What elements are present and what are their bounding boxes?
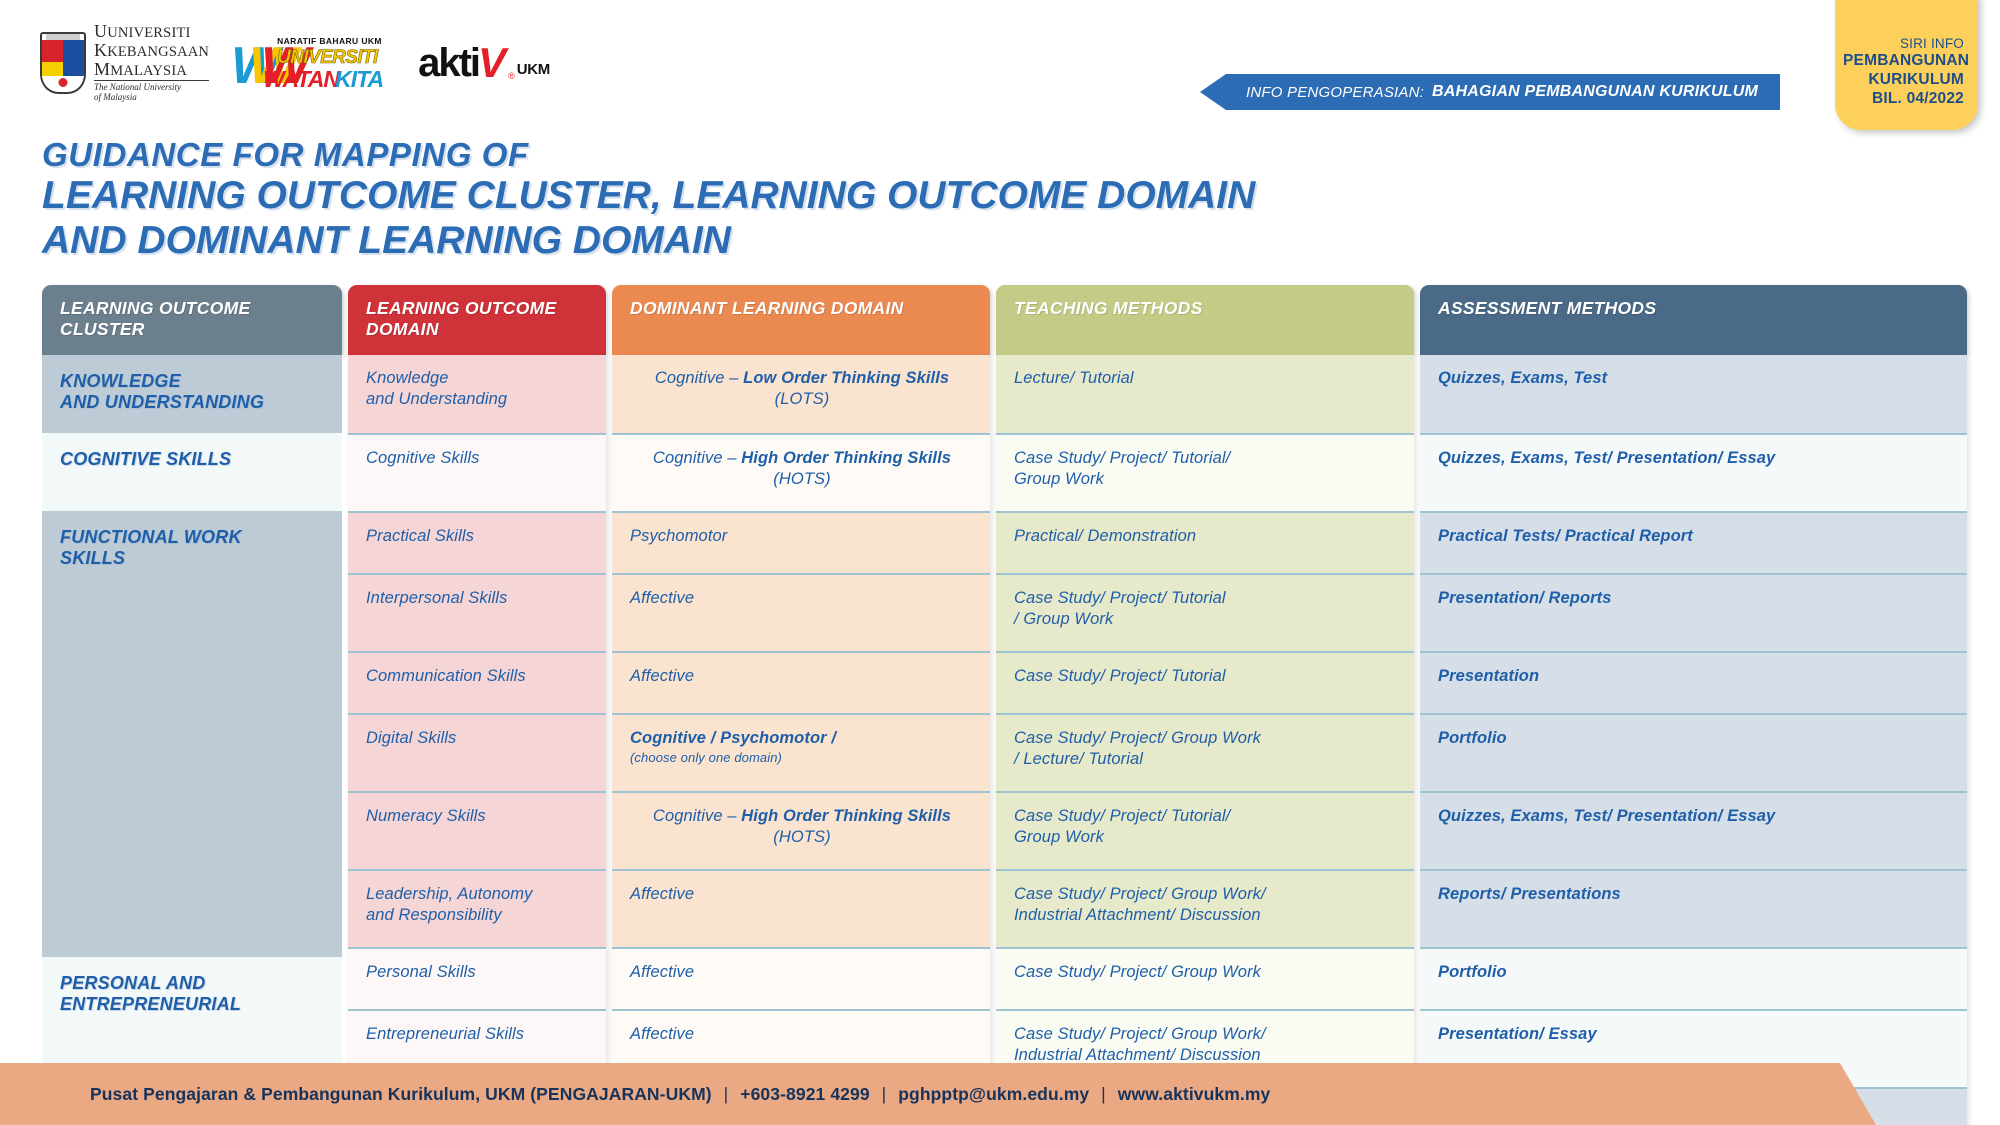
lo-domain-cell: Digital Skills (348, 713, 606, 791)
infographic-page: UUNIVERSITI KKEBANGSAAN MMALAYSIA The Na… (0, 0, 2000, 1125)
naratif-tagline: NARATIF BAHARU UKM (277, 36, 382, 46)
dominant-domain-cell: Cognitive / Psychomotor /(choose only on… (612, 713, 990, 791)
column-header-cluster: LEARNING OUTCOME CLUSTER (42, 285, 342, 355)
dominant-domain-prefix: Psychomotor (630, 527, 727, 545)
dominant-domain-prefix: Affective (630, 963, 694, 981)
mapping-table: LEARNING OUTCOME CLUSTER LEARNING OUTCOM… (42, 285, 1967, 1125)
teaching-methods-cell-line: Group Work (1014, 827, 1398, 848)
naratif-baharu-logo: W W W NARATIF BAHARU UKM UNIVERSITI WATA… (231, 34, 396, 92)
teaching-methods-cell: Case Study/ Project/ Tutorial/Group Work (996, 433, 1414, 511)
dominant-domain-cell: Affective (612, 869, 990, 947)
footer-email[interactable]: pghpptp@ukm.edu.my (898, 1084, 1089, 1104)
lo-domain-cell-line: Interpersonal Skills (366, 588, 590, 609)
assessment-methods-cell-line: Reports/ Presentations (1438, 884, 1951, 905)
cluster-label-line: AND UNDERSTANDING (60, 392, 330, 414)
lo-domain-cell-line: Knowledge (366, 368, 590, 389)
page-title-line2: AND DOMINANT LEARNING DOMAIN (42, 220, 1255, 263)
operation-info-banner: INFO PENGOPERASIAN: BAHAGIAN PEMBANGUNAN… (1200, 74, 1780, 110)
column-header-teaching: TEACHING METHODS (996, 285, 1414, 355)
page-title-block: GUIDANCE FOR MAPPING OF LEARNING OUTCOME… (42, 138, 1255, 262)
column-dominant-learning-domain: Cognitive – Low Order Thinking Skills (L… (612, 355, 990, 1125)
ukm-line1: UNIVERSITI (107, 25, 190, 41)
table-body: KNOWLEDGEAND UNDERSTANDINGCOGNITIVE SKIL… (42, 355, 1967, 1125)
aktiv-v-mark: V (478, 44, 506, 82)
assessment-methods-cell: Practical Tests/ Practical Report (1420, 511, 1967, 573)
dominant-domain-text: Cognitive / Psychomotor / (630, 728, 974, 749)
lo-domain-cell-line: Communication Skills (366, 666, 590, 687)
naratif-line3a: WATAN (263, 66, 339, 93)
lo-domain-cell-line: Leadership, Autonomy (366, 884, 590, 905)
siri-line2: PEMBANGUNAN (1843, 52, 1964, 71)
assessment-methods-cell-line: Practical Tests/ Practical Report (1438, 526, 1951, 547)
assessment-methods-cell: Reports/ Presentations (1420, 869, 1967, 947)
dominant-domain-prefix: Affective (630, 667, 694, 685)
footer-bar: Pusat Pengajaran & Pembangunan Kurikulum… (0, 1063, 2000, 1125)
dominant-domain-prefix: Affective (630, 885, 694, 903)
dominant-domain-prefix: Affective (630, 589, 694, 607)
assessment-methods-cell: Presentation (1420, 651, 1967, 713)
lo-domain-cell-line: Practical Skills (366, 526, 590, 547)
lo-domain-cell: Practical Skills (348, 511, 606, 573)
dominant-domain-note: (choose only one domain) (630, 750, 974, 767)
footer-sep-1: | (724, 1084, 729, 1104)
operation-banner-label: INFO PENGOPERASIAN: (1246, 84, 1424, 101)
assessment-methods-cell: Quizzes, Exams, Test/ Presentation/ Essa… (1420, 433, 1967, 511)
dominant-domain-prefix: Cognitive – (653, 807, 741, 825)
cluster-label-line: ENTREPRENEURIAL (60, 994, 330, 1016)
column-teaching-methods: Lecture/ TutorialCase Study/ Project/ Tu… (996, 355, 1414, 1125)
cluster-cell: KNOWLEDGEAND UNDERSTANDING (42, 355, 342, 433)
assessment-methods-cell-line: Presentation (1438, 666, 1951, 687)
assessment-methods-cell: Quizzes, Exams, Test/ Presentation/ Essa… (1420, 791, 1967, 869)
dominant-domain-prefix: Cognitive – (655, 369, 743, 387)
dominant-domain-text: Affective (630, 666, 974, 687)
siri-line3: KURIKULUM (1843, 71, 1964, 90)
ukm-line3: MALAYSIA (110, 63, 187, 79)
teaching-methods-cell-line: Industrial Attachment/ Discussion (1014, 905, 1398, 926)
footer-sep-2: | (882, 1084, 887, 1104)
teaching-methods-cell-line: Case Study/ Project/ Tutorial (1014, 588, 1398, 609)
ukm-sub2: of Malaysia (94, 93, 209, 103)
assessment-methods-cell-line: Quizzes, Exams, Test (1438, 368, 1951, 389)
cluster-label-line: KNOWLEDGE (60, 371, 330, 393)
cluster-cell: COGNITIVE SKILLS (42, 433, 342, 511)
lo-domain-cell: Leadership, Autonomyand Responsibility (348, 869, 606, 947)
footer-website[interactable]: www.aktivukm.my (1118, 1084, 1271, 1104)
footer-sep-3: | (1101, 1084, 1106, 1104)
teaching-methods-cell-line: Practical/ Demonstration (1014, 526, 1398, 547)
lo-domain-cell-line: Cognitive Skills (366, 448, 590, 469)
dominant-domain-emphasis: Low Order Thinking Skills (743, 369, 949, 387)
aktiv-suffix: UKM (517, 61, 550, 78)
dominant-domain-cell: Cognitive – High Order Thinking Skills (… (612, 791, 990, 869)
assessment-methods-cell: Quizzes, Exams, Test (1420, 355, 1967, 433)
teaching-methods-cell-line: Case Study/ Project/ Tutorial (1014, 666, 1398, 687)
operation-banner-value: BAHAGIAN PEMBANGUNAN KURIKULUM (1432, 83, 1758, 101)
assessment-methods-cell-line: Quizzes, Exams, Test/ Presentation/ Essa… (1438, 806, 1951, 827)
teaching-methods-cell-line: Case Study/ Project/ Tutorial/ (1014, 448, 1398, 469)
naratif-line3b: KITA (335, 66, 383, 93)
teaching-methods-cell: Practical/ Demonstration (996, 511, 1414, 573)
table-header-row: LEARNING OUTCOME CLUSTER LEARNING OUTCOM… (42, 285, 1967, 355)
dominant-domain-emphasis: Cognitive / Psychomotor / (630, 729, 836, 747)
aktiv-word: akti (418, 45, 479, 81)
lo-domain-cell: Personal Skills (348, 947, 606, 1009)
dominant-domain-text: Affective (630, 962, 974, 983)
lo-domain-cell-line: Personal Skills (366, 962, 590, 983)
teaching-methods-cell-line: Lecture/ Tutorial (1014, 368, 1398, 389)
teaching-methods-cell-line: Case Study/ Project/ Group Work (1014, 728, 1398, 749)
lo-domain-cell-line: and Responsibility (366, 905, 590, 926)
dominant-domain-text: Cognitive – Low Order Thinking Skills (L… (630, 368, 974, 410)
ukm-crest-wordmark: UUNIVERSITI KKEBANGSAAN MMALAYSIA The Na… (94, 22, 209, 103)
page-title-line1: LEARNING OUTCOME CLUSTER, LEARNING OUTCO… (42, 175, 1255, 218)
lo-domain-cell-line: Numeracy Skills (366, 806, 590, 827)
dominant-domain-text: Affective (630, 1024, 974, 1045)
dominant-domain-emphasis: High Order Thinking Skills (741, 807, 951, 825)
lo-domain-cell: Communication Skills (348, 651, 606, 713)
lo-domain-cell: Cognitive Skills (348, 433, 606, 511)
teaching-methods-cell-line: / Lecture/ Tutorial (1014, 749, 1398, 770)
dominant-domain-prefix: Cognitive – (653, 449, 741, 467)
dominant-domain-text: Psychomotor (630, 526, 974, 547)
assessment-methods-cell-line: Portfolio (1438, 728, 1951, 749)
teaching-methods-cell: Lecture/ Tutorial (996, 355, 1414, 433)
siri-line1: SIRI INFO (1843, 36, 1964, 52)
assessment-methods-cell-line: Presentation/ Essay (1438, 1024, 1951, 1045)
assessment-methods-cell-line: Portfolio (1438, 962, 1951, 983)
ukm-crest-logo: UUNIVERSITI KKEBANGSAAN MMALAYSIA The Na… (40, 22, 209, 103)
teaching-methods-cell: Case Study/ Project/ Tutorial/Group Work (996, 791, 1414, 869)
siri-line4: BIL. 04/2022 (1843, 90, 1964, 109)
teaching-methods-cell: Case Study/ Project/ Tutorial/ Group Wor… (996, 573, 1414, 651)
dominant-domain-prefix: Affective (630, 1025, 694, 1043)
assessment-methods-cell-line: Presentation/ Reports (1438, 588, 1951, 609)
column-learning-outcome-domain: Knowledgeand UnderstandingCognitive Skil… (348, 355, 606, 1125)
lo-domain-cell-line: Entrepreneurial Skills (366, 1024, 590, 1045)
dominant-domain-cell: Psychomotor (612, 511, 990, 573)
dominant-domain-cell: Affective (612, 651, 990, 713)
column-header-lo-domain: LEARNING OUTCOME DOMAIN (348, 285, 606, 355)
teaching-methods-cell-line: Case Study/ Project/ Tutorial/ (1014, 806, 1398, 827)
cluster-label-line: PERSONAL AND (60, 973, 330, 995)
assessment-methods-cell: Portfolio (1420, 947, 1967, 1009)
dominant-domain-cell: Affective (612, 573, 990, 651)
teaching-methods-cell: Case Study/ Project/ Tutorial (996, 651, 1414, 713)
lo-domain-cell: Numeracy Skills (348, 791, 606, 869)
lo-domain-cell-line: Digital Skills (366, 728, 590, 749)
dominant-domain-suffix: (HOTS) (773, 470, 830, 488)
logo-group: UUNIVERSITI KKEBANGSAAN MMALAYSIA The Na… (40, 22, 550, 103)
dominant-domain-emphasis: High Order Thinking Skills (741, 449, 951, 467)
footer-org: Pusat Pengajaran & Pembangunan Kurikulum… (90, 1084, 712, 1104)
dominant-domain-suffix: (HOTS) (773, 828, 830, 846)
siri-info-tab: SIRI INFO PEMBANGUNAN KURIKULUM BIL. 04/… (1835, 0, 1978, 130)
page-subtitle: GUIDANCE FOR MAPPING OF (42, 138, 1255, 173)
column-header-dominant: DOMINANT LEARNING DOMAIN (612, 285, 990, 355)
dominant-domain-cell: Affective (612, 947, 990, 1009)
dominant-domain-cell: Cognitive – High Order Thinking Skills (… (612, 433, 990, 511)
teaching-methods-cell: Case Study/ Project/ Group Work/Industri… (996, 869, 1414, 947)
footer-text: Pusat Pengajaran & Pembangunan Kurikulum… (90, 1084, 1270, 1105)
teaching-methods-cell: Case Study/ Project/ Group Work (996, 947, 1414, 1009)
footer-phone[interactable]: +603-8921 4299 (740, 1084, 869, 1104)
aktiv-ukm-logo: akti V ® UKM (418, 44, 550, 82)
assessment-methods-cell: Portfolio (1420, 713, 1967, 791)
column-cluster: KNOWLEDGEAND UNDERSTANDINGCOGNITIVE SKIL… (42, 355, 342, 1125)
dominant-domain-suffix: (LOTS) (775, 390, 830, 408)
assessment-methods-cell: Presentation/ Reports (1420, 573, 1967, 651)
teaching-methods-cell-line: Group Work (1014, 469, 1398, 490)
cluster-label-line: FUNCTIONAL WORK (60, 527, 330, 549)
column-header-assessment: ASSESSMENT METHODS (1420, 285, 1967, 355)
cluster-label-line: COGNITIVE SKILLS (60, 449, 330, 471)
teaching-methods-cell-line: Case Study/ Project/ Group Work/ (1014, 884, 1398, 905)
registered-icon: ® (508, 71, 515, 81)
teaching-methods-cell: Case Study/ Project/ Group Work/ Lecture… (996, 713, 1414, 791)
dominant-domain-text: Cognitive – High Order Thinking Skills (… (630, 448, 974, 490)
teaching-methods-cell-line: Industrial Attachment/ Discussion (1014, 1045, 1398, 1066)
assessment-methods-cell-line: Quizzes, Exams, Test/ Presentation/ Essa… (1438, 448, 1951, 469)
dominant-domain-text: Cognitive – High Order Thinking Skills (… (630, 806, 974, 848)
cluster-label-line: SKILLS (60, 548, 330, 570)
cluster-cell: FUNCTIONAL WORKSKILLS (42, 511, 342, 957)
lo-domain-cell-line: and Understanding (366, 389, 590, 410)
dominant-domain-text: Affective (630, 884, 974, 905)
ukm-crest-icon (40, 32, 86, 94)
column-assessment-methods: Quizzes, Exams, TestQuizzes, Exams, Test… (1420, 355, 1967, 1125)
teaching-methods-cell-line: Case Study/ Project/ Group Work (1014, 962, 1398, 983)
ukm-line2: KEBANGSAAN (107, 44, 209, 60)
dominant-domain-text: Affective (630, 588, 974, 609)
teaching-methods-cell-line: Case Study/ Project/ Group Work/ (1014, 1024, 1398, 1045)
teaching-methods-cell-line: / Group Work (1014, 609, 1398, 630)
dominant-domain-cell: Cognitive – Low Order Thinking Skills (L… (612, 355, 990, 433)
lo-domain-cell: Interpersonal Skills (348, 573, 606, 651)
lo-domain-cell: Knowledgeand Understanding (348, 355, 606, 433)
